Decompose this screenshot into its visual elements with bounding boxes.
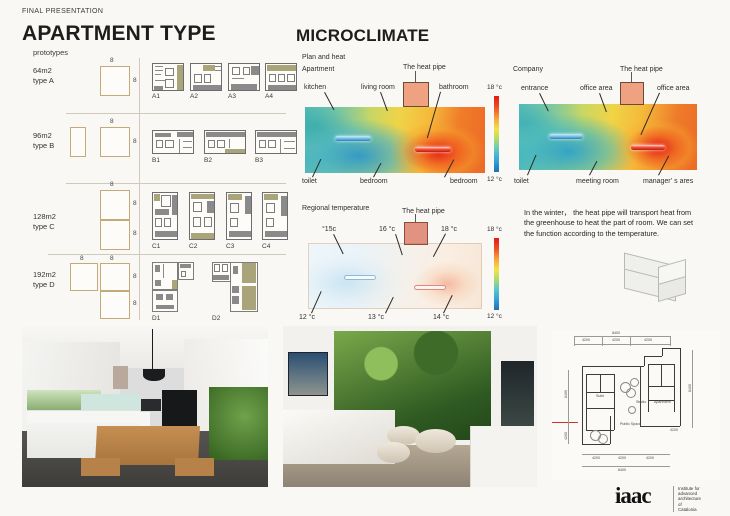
floorplan-thumb-a4[interactable]	[265, 63, 297, 91]
cad-outline-11	[640, 426, 680, 427]
cad-tick-t4	[670, 336, 671, 346]
cad-wall-i	[648, 364, 649, 412]
iaac-tagline-4: of Catalonia	[678, 502, 701, 512]
cad-dim-right-1: 8400	[688, 384, 692, 392]
cad-tree-6	[598, 434, 608, 444]
module-square-a1	[100, 66, 130, 96]
floorplan-caption-b2: B2	[204, 157, 212, 164]
table-row-divider-1	[66, 113, 286, 114]
floorplan-caption-a2: A2	[190, 93, 198, 100]
cad-wall-k	[648, 386, 674, 387]
cad-outline-10	[680, 348, 681, 426]
regional-map-caption: Regional temperature	[302, 205, 369, 212]
dim-a-top: 8	[110, 57, 114, 64]
photo-pendant-lamp	[143, 369, 165, 380]
label-toilet-company: toilet	[514, 178, 529, 185]
floorplan-caption-b3: B3	[255, 157, 263, 164]
page-title-apartment-type: APARTMENT TYPE	[22, 22, 216, 46]
module-square-d2	[100, 263, 130, 291]
cad-dim-top-1: 4200	[582, 338, 590, 342]
label-heat-pipe-apartment: The heat pipe	[403, 64, 446, 71]
dim-b-right: 8	[133, 138, 137, 145]
dim-c-top: 8	[110, 181, 114, 188]
company-map-caption: Company	[513, 66, 543, 73]
hot-pipe-company	[631, 145, 665, 150]
dim-c-right1: 8	[133, 200, 137, 207]
photo-bench-right	[175, 458, 214, 476]
cad-room-suite: Suite	[596, 394, 604, 398]
dim-d-top1: 8	[80, 255, 84, 262]
cad-dim-line-left	[568, 370, 569, 444]
floorplan-thumb-c3[interactable]	[226, 192, 252, 240]
floorplan-thumb-c4[interactable]	[262, 192, 288, 240]
floorplan-caption-c1: C1	[152, 243, 160, 250]
cad-wall-f	[586, 408, 614, 409]
cad-outline-2	[582, 366, 583, 444]
presentation-board: FINAL PRESENTATION APARTMENT TYPE MICROC…	[0, 0, 730, 516]
floorplan-caption-a3: A3	[228, 93, 236, 100]
floorplan-thumb-d1[interactable]	[152, 262, 194, 312]
cad-dim-line-top	[574, 336, 670, 337]
scale-max-apartment: 18 °c	[487, 84, 502, 91]
photo-microwave	[140, 398, 162, 411]
iaac-tagline: Institute for advanced architecture of C…	[673, 486, 701, 512]
cad-floor-plan[interactable]: 4200 4200 4200 8400	[552, 330, 720, 480]
floorplan-thumb-b2[interactable]	[204, 130, 246, 154]
cold-pipe-apartment	[335, 136, 371, 141]
floorplan-thumb-a1[interactable]	[152, 63, 184, 91]
cad-dim-bottom-2: 4200	[618, 456, 626, 460]
floorplan-caption-a1: A1	[152, 93, 160, 100]
cad-outline-3	[582, 444, 610, 445]
iaac-logo: iaac Institute for advanced architecture…	[615, 484, 651, 507]
heat-pipe-box-regional	[404, 222, 428, 245]
cad-wall-m	[661, 364, 662, 386]
label-living-room: living room	[361, 84, 395, 91]
module-square-c2	[100, 220, 130, 250]
floorplan-thumb-b3[interactable]	[255, 130, 297, 154]
label-kitchen: kitchen	[304, 84, 326, 91]
floorplan-thumb-c1[interactable]	[152, 192, 178, 240]
scale-max-regional: 18 °c	[487, 226, 502, 233]
cad-tree-3	[630, 378, 639, 387]
label-temp-15c: °15c	[322, 226, 336, 233]
dim-a-right: 8	[133, 77, 137, 84]
colorbar-apartment	[494, 96, 499, 172]
module-square-b0	[70, 127, 86, 157]
floorplan-caption-c4: C4	[262, 243, 270, 250]
winter-note-text: In the winter， the heat pipe will transp…	[524, 208, 694, 239]
page-title-microclimate: MICROCLIMATE	[296, 26, 429, 46]
scale-min-apartment: 12 °c	[487, 176, 502, 183]
dim-d-right1: 8	[133, 273, 137, 280]
cad-dim-top-2: 4200	[612, 338, 620, 342]
cold-pipe-company	[549, 134, 583, 139]
floorplan-caption-a4: A4	[265, 93, 273, 100]
cad-wall-c	[614, 374, 615, 430]
cad-tree-2	[626, 388, 636, 398]
cad-dim-left-2: 4200	[564, 432, 568, 440]
photo-garden-plants	[209, 387, 268, 459]
label-bedroom-2: bedroom	[450, 178, 478, 185]
cad-outline-6	[644, 356, 645, 366]
table-row-divider-2	[66, 183, 286, 184]
photo-range-hood	[113, 366, 128, 389]
floorplan-thumb-d2[interactable]	[212, 262, 258, 312]
hot-pipe-apartment	[415, 147, 451, 152]
cad-wall-e	[586, 392, 614, 393]
label-temp-12c: 12 °c	[299, 314, 315, 321]
dim-c-right2: 8	[133, 230, 137, 237]
label-temp-18c: 18 °c	[441, 226, 457, 233]
module-square-b1	[100, 127, 130, 157]
floorplan-caption-b1: B1	[152, 157, 160, 164]
photo-pouf-2	[415, 429, 456, 453]
label-meeting-room: meeting room	[576, 178, 619, 185]
row-label-type-c: 128m2 type C	[33, 212, 56, 232]
heatmap-apartment-gradient	[305, 107, 485, 173]
heat-pipe-stem-apartment	[415, 71, 416, 82]
photo-vanity-cabinet	[470, 426, 537, 487]
cad-outline-5	[610, 416, 611, 417]
cad-dim-bottom-total: 8400	[618, 468, 626, 472]
cad-room-apartment: Apartment	[654, 400, 671, 404]
cold-pipe-regional	[344, 275, 376, 280]
cad-outline-1	[582, 366, 644, 367]
iaac-wordmark: iaac	[615, 484, 651, 507]
module-square-c1	[100, 190, 130, 220]
heat-pipe-stem-company	[631, 72, 632, 82]
kicker-label: FINAL PRESENTATION	[22, 8, 103, 15]
photo-bench-left	[81, 458, 120, 476]
photo-glass-panel	[501, 361, 534, 429]
label-temp-13c: 13 °c	[368, 314, 384, 321]
apartment-map-caption-1: Plan and heat	[302, 54, 345, 61]
floorplan-caption-c3: C3	[226, 243, 234, 250]
prototypes-label: prototypes	[33, 48, 68, 57]
floorplan-thumb-c2[interactable]	[189, 192, 215, 240]
label-heat-pipe-company: The heat pipe	[620, 66, 663, 73]
module-square-d1	[70, 263, 98, 291]
cad-wall-b	[586, 374, 587, 430]
photo-kitchen-dining[interactable]	[22, 326, 268, 487]
photo-bedroom-garden[interactable]	[283, 326, 537, 487]
heatmap-company-gradient	[519, 104, 697, 170]
row-label-type-d: 192m2 type D	[33, 270, 56, 290]
floorplan-thumb-a3[interactable]	[228, 63, 260, 91]
label-office-area-2: office area	[657, 85, 690, 92]
label-manager-area: manager’ s ares	[643, 178, 693, 185]
dim-d-right2: 8	[133, 300, 137, 307]
label-toilet-apartment: toilet	[302, 178, 317, 185]
cad-dim-bottom-3: 4200	[646, 456, 654, 460]
photo-pendant-cord	[152, 329, 153, 369]
cad-dim-right-2: 4200	[670, 428, 678, 432]
cad-section-line	[552, 422, 578, 423]
cad-outline-13	[640, 366, 641, 412]
heatmap-regional-gradient	[308, 243, 482, 309]
cad-dim-line-bottom-2	[582, 466, 670, 467]
photo-backsplash	[81, 394, 140, 410]
heatmap-regional	[308, 243, 482, 309]
cad-wall-d	[586, 430, 614, 431]
label-bedroom-1: bedroom	[360, 178, 388, 185]
hot-pipe-regional	[414, 285, 446, 290]
label-bathroom: bathroom	[439, 84, 469, 91]
cad-dim-line-bottom	[582, 454, 670, 455]
apartment-map-caption-2: Apartment	[302, 66, 334, 73]
dim-b-top: 8	[110, 118, 114, 125]
cad-dim-bottom-1: 4200	[592, 456, 600, 460]
cad-room-studio: Studio	[636, 400, 646, 404]
floorplan-thumb-a2[interactable]	[190, 63, 222, 91]
label-office-area-1: office area	[580, 85, 613, 92]
cad-outline-7	[644, 356, 662, 357]
cad-wall-g	[600, 374, 601, 392]
cad-tick-t2	[602, 336, 603, 346]
label-temp-14c: 14 °c	[433, 314, 449, 321]
floorplan-caption-c2: C2	[189, 243, 197, 250]
floorplan-caption-d2: D2	[212, 315, 220, 322]
iaac-tagline-3: architecture	[678, 496, 701, 501]
cad-dim-top-total: 8400	[612, 331, 620, 335]
cad-outline-9	[662, 348, 680, 349]
heatmap-company	[519, 104, 697, 170]
cad-tick-t1	[574, 336, 575, 346]
cad-dim-line-right	[692, 350, 693, 428]
cad-dim-left-1: 8400	[564, 390, 568, 398]
label-entrance: entrance	[521, 85, 548, 92]
scale-min-regional: 12 °c	[487, 313, 502, 320]
floorplan-caption-d1: D1	[152, 315, 160, 322]
label-heat-pipe-regional: The heat pipe	[402, 208, 445, 215]
photo-wall-artwork	[288, 352, 328, 396]
module-square-d3	[100, 291, 130, 319]
cad-room-public-space: Public Space	[620, 422, 641, 426]
heat-pipe-box-company	[620, 82, 644, 105]
cad-dim-line-top-2	[574, 344, 670, 345]
photo-pouf-3	[377, 442, 410, 463]
cad-outline-8	[662, 348, 663, 356]
table-vertical-divider	[139, 58, 140, 320]
heat-pipe-box-apartment	[403, 82, 429, 107]
heat-pipe-stem-regional	[415, 214, 416, 222]
cad-wall-j	[674, 364, 675, 412]
colorbar-regional	[494, 238, 499, 310]
floorplan-thumb-b1[interactable]	[152, 130, 194, 154]
cad-tick-t3	[630, 336, 631, 346]
label-temp-16c: 16 °c	[379, 226, 395, 233]
isometric-greenhouse-diagram	[618, 255, 692, 301]
dim-d-top2: 8	[110, 255, 114, 262]
row-label-type-a: 64m2 type A	[33, 66, 54, 86]
row-label-type-b: 96m2 type B	[33, 131, 54, 151]
heatmap-apartment	[305, 107, 485, 173]
cad-tree-4	[628, 406, 636, 414]
cad-dim-top-3: 4200	[644, 338, 652, 342]
